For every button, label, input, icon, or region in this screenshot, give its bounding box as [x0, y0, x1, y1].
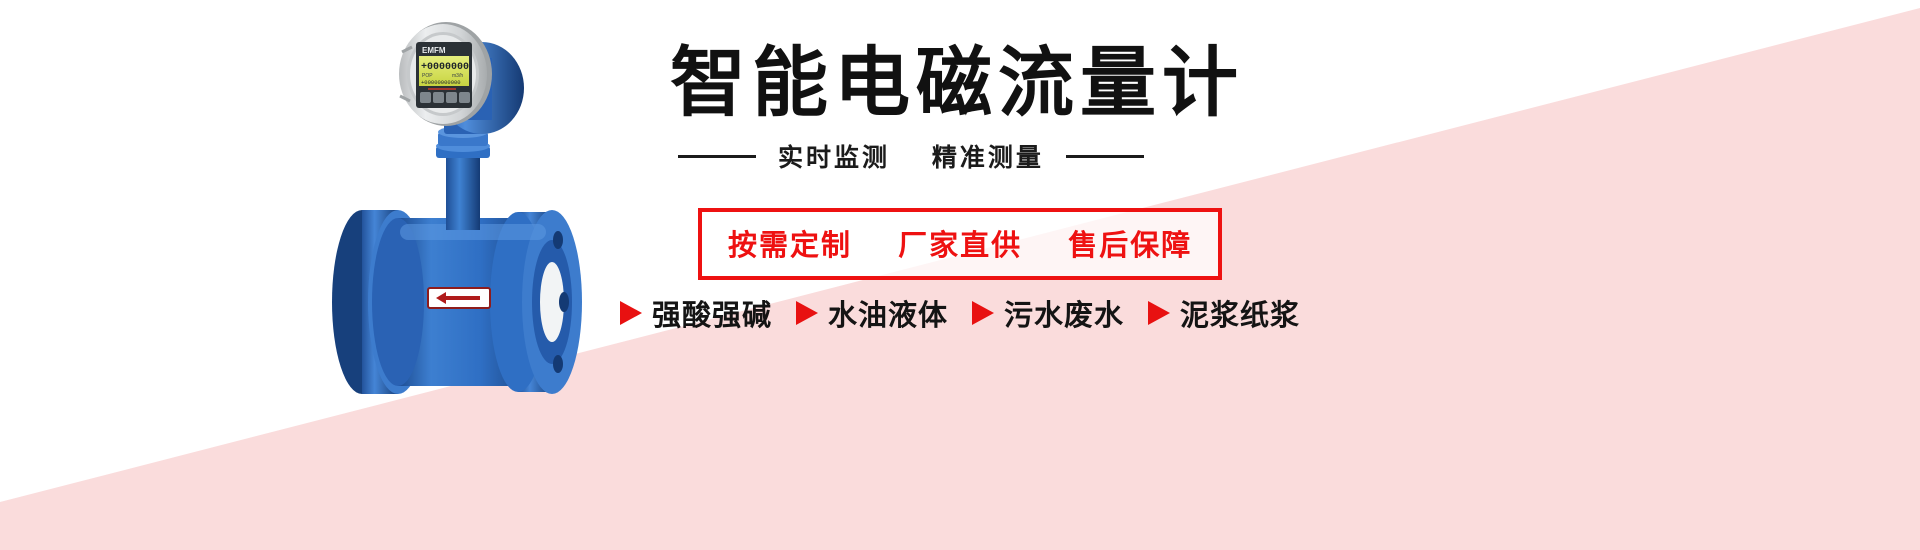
promo-text: 按需定制 厂家直供 售后保障	[728, 222, 1192, 264]
device-lcd-secondary-value: +00000000000	[421, 79, 461, 86]
feature-label: 强酸强碱	[652, 292, 772, 334]
triangle-right-icon	[972, 301, 994, 325]
device-lcd-primary-value: +0000000	[421, 62, 469, 73]
triangle-right-icon	[1148, 301, 1170, 325]
feature-item: 水油液体	[796, 292, 948, 334]
promo-callout-box: 按需定制 厂家直供 售后保障	[698, 208, 1222, 280]
triangle-right-icon	[796, 301, 818, 325]
subtitle-left: 实时监测	[778, 144, 890, 172]
subtitle-rule-left	[678, 155, 756, 158]
feature-label: 污水废水	[1004, 292, 1124, 334]
promo-item-1: 按需定制	[728, 230, 852, 262]
device-brand-label: EMFM	[422, 46, 446, 55]
feature-item: 污水废水	[972, 292, 1124, 334]
subtitle-rule-right	[1066, 155, 1144, 158]
promo-item-2: 厂家直供	[898, 230, 1022, 262]
feature-item: 强酸强碱	[620, 292, 772, 334]
flowmeter-illustration: EMFM +0000000 POP m3/h +00000000000	[250, 0, 670, 550]
feature-label: 水油液体	[828, 292, 948, 334]
feature-item: 泥浆纸浆	[1148, 292, 1300, 334]
feature-label: 泥浆纸浆	[1180, 292, 1300, 334]
subtitle-row: 实时监测 精准测量	[678, 138, 1144, 174]
triangle-right-icon	[620, 301, 642, 325]
product-banner: EMFM +0000000 POP m3/h +00000000000 智能电磁…	[0, 0, 1920, 550]
feature-list: 强酸强碱 水油液体 污水废水 泥浆纸浆	[620, 292, 1300, 334]
page-title: 智能电磁流量计	[670, 46, 1244, 122]
promo-item-3: 售后保障	[1068, 230, 1192, 262]
subtitle-text: 实时监测 精准测量	[778, 138, 1044, 174]
banner-copy: 智能电磁流量计 实时监测 精准测量 按需定制 厂家直供 售后保障 强酸强碱	[620, 0, 1620, 550]
subtitle-right: 精准测量	[932, 144, 1044, 172]
